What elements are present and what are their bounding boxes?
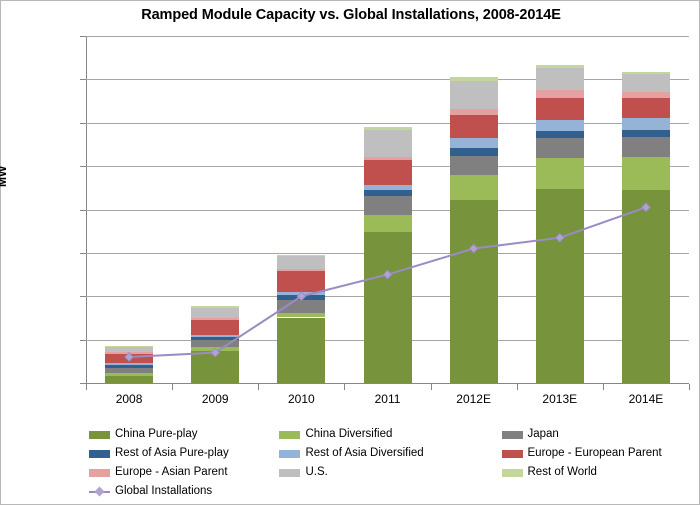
bar-segment[interactable]: [191, 337, 239, 340]
bar-segment[interactable]: [622, 72, 670, 74]
legend-swatch-icon: [502, 469, 523, 477]
bar-segment[interactable]: [105, 368, 153, 374]
bar-segment[interactable]: [622, 157, 670, 190]
legend-swatch-icon: [89, 450, 110, 458]
legend-item[interactable]: China Diversified: [279, 428, 501, 441]
bar-segment[interactable]: [622, 92, 670, 99]
bar-segment[interactable]: [191, 306, 239, 308]
legend-item[interactable]: Japan: [502, 428, 690, 441]
legend-label: Rest of World: [528, 466, 597, 479]
legend-label: U.S.: [305, 466, 327, 479]
legend-label: Japan: [528, 428, 559, 441]
legend-item[interactable]: U.S.: [279, 466, 501, 479]
bar-segment[interactable]: [622, 190, 670, 383]
bar-segment[interactable]: [622, 98, 670, 118]
x-axis-line: [86, 383, 689, 384]
bar-segment[interactable]: [364, 215, 412, 232]
y-axis-title: MW: [0, 166, 9, 187]
bar-segment[interactable]: [364, 130, 412, 157]
x-tick-label: 2010: [261, 392, 341, 406]
bar-segment[interactable]: [622, 137, 670, 156]
bar-segment[interactable]: [364, 160, 412, 184]
bar-segment[interactable]: [450, 77, 498, 80]
bar-segment[interactable]: [536, 98, 584, 120]
x-tick-label: 2014E: [606, 392, 686, 406]
chart-container: Ramped Module Capacity vs. Global Instal…: [0, 0, 700, 505]
bar-segment[interactable]: [536, 138, 584, 158]
bar-segment[interactable]: [105, 352, 153, 353]
x-tick-label: 2012E: [434, 392, 514, 406]
bar-segment[interactable]: [191, 335, 239, 336]
bar-segment[interactable]: [450, 109, 498, 115]
bar-segment[interactable]: [277, 292, 325, 294]
bar-segment[interactable]: [536, 68, 584, 90]
bar-segment[interactable]: [364, 190, 412, 196]
bar-stack-2009[interactable]: [191, 36, 239, 383]
legend-item[interactable]: Rest of World: [502, 466, 690, 479]
bar-segment[interactable]: [536, 158, 584, 189]
bar-segment[interactable]: [364, 232, 412, 383]
bar-segment[interactable]: [191, 340, 239, 347]
legend-item[interactable]: Rest of Asia Diversified: [279, 447, 501, 460]
bar-segment[interactable]: [277, 295, 325, 301]
legend-swatch-icon: [279, 450, 300, 458]
legend-label: China Pure-play: [115, 428, 197, 441]
x-tick-mark: [689, 384, 690, 390]
bar-segment[interactable]: [277, 269, 325, 271]
legend-row: China Pure-playChina DiversifiedJapan: [89, 425, 689, 444]
legend-item[interactable]: Europe - European Parent: [502, 447, 690, 460]
legend-row: Europe - Asian ParentU.S.Rest of World: [89, 463, 689, 482]
bar-segment[interactable]: [277, 271, 325, 292]
bar-segment[interactable]: [277, 256, 325, 269]
bar-segment[interactable]: [622, 74, 670, 91]
chart-title: Ramped Module Capacity vs. Global Instal…: [1, 7, 700, 23]
legend-row: Rest of Asia Pure-playRest of Asia Diver…: [89, 444, 689, 463]
legend-item[interactable]: Global Installations: [89, 485, 282, 498]
chart-legend: China Pure-playChina DiversifiedJapanRes…: [89, 425, 689, 501]
bar-segment[interactable]: [191, 320, 239, 336]
legend-item[interactable]: Rest of Asia Pure-play: [89, 447, 279, 460]
bar-segment[interactable]: [450, 200, 498, 383]
bar-stack-2014E[interactable]: [622, 36, 670, 383]
bar-segment[interactable]: [364, 196, 412, 214]
bar-segment[interactable]: [364, 185, 412, 191]
bar-segment[interactable]: [277, 255, 325, 256]
bar-stack-2012E[interactable]: [450, 36, 498, 383]
x-tick-label: 2013E: [520, 392, 600, 406]
bar-segment[interactable]: [191, 347, 239, 351]
bar-segment[interactable]: [105, 363, 153, 365]
x-tick-mark: [431, 384, 432, 390]
bar-segment[interactable]: [277, 300, 325, 313]
x-tick-mark: [172, 384, 173, 390]
x-tick-mark: [517, 384, 518, 390]
bar-segment[interactable]: [105, 346, 153, 347]
bar-segment[interactable]: [622, 130, 670, 138]
x-tick-label: 2008: [89, 392, 169, 406]
legend-swatch-icon: [279, 469, 300, 477]
bar-segment[interactable]: [450, 81, 498, 109]
bar-segment[interactable]: [191, 308, 239, 318]
bar-segment[interactable]: [105, 347, 153, 352]
bar-stack-2013E[interactable]: [536, 36, 584, 383]
x-tick-label: 2009: [175, 392, 255, 406]
bar-segment[interactable]: [450, 115, 498, 138]
bar-stack-2010[interactable]: [277, 36, 325, 383]
legend-line-marker-icon: [89, 487, 110, 496]
bar-segment[interactable]: [450, 138, 498, 148]
bar-segment[interactable]: [536, 120, 584, 131]
x-tick-mark: [86, 384, 87, 390]
bar-segment[interactable]: [277, 318, 325, 383]
x-tick-mark: [603, 384, 604, 390]
legend-swatch-icon: [89, 431, 110, 439]
legend-label: Europe - Asian Parent: [115, 466, 228, 479]
legend-swatch-icon: [502, 431, 523, 439]
bar-segment[interactable]: [105, 365, 153, 368]
bar-stack-2011[interactable]: [364, 36, 412, 383]
bar-segment[interactable]: [191, 351, 239, 383]
bar-stack-2008[interactable]: [105, 36, 153, 383]
bar-segment[interactable]: [191, 318, 239, 319]
legend-swatch-icon: [502, 450, 523, 458]
legend-item[interactable]: Europe - Asian Parent: [89, 466, 279, 479]
bar-segment[interactable]: [105, 354, 153, 364]
bar-segment[interactable]: [364, 157, 412, 161]
x-tick-mark: [344, 384, 345, 390]
x-tick-mark: [258, 384, 259, 390]
bar-segment[interactable]: [450, 148, 498, 156]
bar-segment[interactable]: [536, 90, 584, 98]
bar-segment[interactable]: [364, 127, 412, 130]
bar-segment[interactable]: [105, 373, 153, 375]
legend-swatch-icon: [279, 431, 300, 439]
legend-row: Global Installations: [89, 482, 689, 501]
x-tick-label: 2011: [348, 392, 428, 406]
plot-area: [86, 36, 689, 383]
legend-label: Europe - European Parent: [528, 447, 662, 460]
legend-label: Rest of Asia Pure-play: [115, 447, 229, 460]
bar-segment[interactable]: [536, 189, 584, 383]
bar-segment[interactable]: [536, 131, 584, 139]
legend-label: Global Installations: [115, 485, 212, 498]
bar-segment[interactable]: [277, 313, 325, 318]
bar-segment[interactable]: [450, 156, 498, 175]
legend-label: Rest of Asia Diversified: [305, 447, 423, 460]
legend-label: China Diversified: [305, 428, 392, 441]
bar-segment[interactable]: [536, 65, 584, 68]
bar-segment[interactable]: [622, 118, 670, 129]
legend-swatch-icon: [89, 469, 110, 477]
bar-segment[interactable]: [105, 376, 153, 383]
bar-segment[interactable]: [450, 175, 498, 200]
legend-item[interactable]: China Pure-play: [89, 428, 279, 441]
